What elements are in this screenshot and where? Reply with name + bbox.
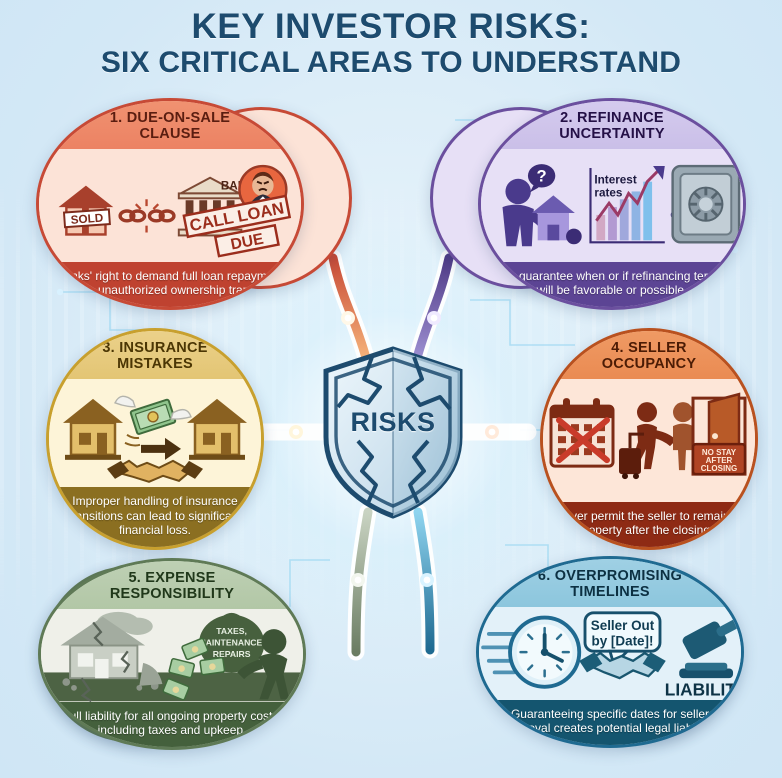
- flying-money-icon: [115, 397, 191, 446]
- risk-4-caption: Never permit the seller to remain in the…: [543, 502, 755, 547]
- risk-3-artwork: [49, 379, 261, 487]
- svg-text:rates: rates: [594, 187, 622, 200]
- crossed-out-calendar-icon: [551, 399, 613, 467]
- risk-1-caption: Banks' right to demand full loan repayme…: [39, 262, 301, 307]
- person-standing-icon: [673, 403, 693, 471]
- risk-card-1-due-on-sale-clause[interactable]: 1. DUE-ON-SALECLAUSE SOLD: [36, 98, 304, 310]
- risk-card-2-refinance-uncertainty[interactable]: 2. REFINANCEUNCERTAINTY ?: [478, 98, 746, 310]
- risk-6-heading: 6. OVERPROMISINGTIMELINES: [479, 559, 741, 607]
- gavel-icon: LIABILITY: [665, 608, 741, 700]
- svg-text:MAINTENANCE,: MAINTENANCE,: [198, 638, 264, 648]
- house-icon: [532, 196, 582, 245]
- risk-1-heading: 1. DUE-ON-SALECLAUSE: [39, 101, 301, 149]
- risk-6-caption: Guaranteeing specific dates for seller r…: [479, 700, 741, 745]
- handshake-icon: [579, 653, 666, 679]
- risk-2-artwork: ? Interest rates: [481, 149, 743, 261]
- house-icon: [63, 399, 123, 460]
- risk-5-heading: 5. EXPENSERESPONSIBILITY: [41, 561, 303, 609]
- risk-4-artwork: NO STAY AFTER CLOSING: [543, 379, 755, 501]
- risk-2-heading: 2. REFINANCEUNCERTAINTY: [481, 101, 743, 149]
- title-line-1: KEY INVESTOR RISKS:: [0, 8, 782, 45]
- broken-chain-icon: [120, 200, 174, 233]
- svg-text:Interest: Interest: [594, 174, 636, 187]
- svg-text:Seller Out: Seller Out: [591, 619, 655, 634]
- house-sold-icon: SOLD: [59, 186, 114, 235]
- svg-text:LIABILITY: LIABILITY: [665, 680, 741, 700]
- arrow-right-icon: [141, 438, 181, 460]
- house-icon: [187, 399, 247, 460]
- risk-card-6-overpromising-timelines[interactable]: 6. OVERPROMISINGTIMELINES: [476, 556, 744, 748]
- risk-3-caption: Improper handling of insurance transitio…: [49, 487, 261, 547]
- svg-text:TAXES,: TAXES,: [216, 626, 247, 636]
- risk-card-4-seller-occupancy[interactable]: 4. SELLEROCCUPANCY: [540, 328, 758, 550]
- svg-text:CLOSING: CLOSING: [701, 465, 737, 474]
- question-mark-icon: ?: [528, 165, 555, 193]
- warning-sign-icon: NO STAY AFTER CLOSING: [693, 445, 745, 475]
- svg-text:?: ?: [537, 167, 547, 186]
- risk-3-heading: 3. INSURANCEMISTAKES: [49, 331, 261, 379]
- risk-4-heading: 4. SELLEROCCUPANCY: [543, 331, 755, 379]
- risk-card-3-insurance-mistakes[interactable]: 3. INSURANCEMISTAKES: [46, 328, 264, 550]
- risk-card-5-expense-responsibility[interactable]: 5. EXPENSERESPONSIBILITY: [38, 558, 306, 750]
- center-shield[interactable]: RISKS: [318, 345, 468, 520]
- title-line-2: SIX CRITICAL AREAS TO UNDERSTAND: [0, 45, 782, 80]
- svg-text:SOLD: SOLD: [70, 212, 103, 227]
- risk-5-artwork: TAXES, MAINTENANCE, REPAIRS: [41, 609, 303, 701]
- risk-2-caption: No guarantee when or if refinancing term…: [481, 262, 743, 307]
- handshake-icon: [107, 461, 203, 482]
- svg-text:by [Date]!: by [Date]!: [592, 634, 654, 649]
- page-title: KEY INVESTOR RISKS: SIX CRITICAL AREAS T…: [0, 8, 782, 80]
- risk-1-artwork: SOLD: [39, 149, 301, 261]
- fast-clock-icon: [483, 618, 579, 687]
- rising-interest-rate-chart-icon: Interest rates: [590, 167, 664, 243]
- risk-5-caption: Full liability for all ongoing property …: [41, 702, 303, 747]
- bank-vault-icon: [673, 167, 739, 243]
- center-shield-label: RISKS: [318, 407, 468, 438]
- risk-6-artwork: Seller Out by [Date]! LIABILITY: [479, 607, 741, 699]
